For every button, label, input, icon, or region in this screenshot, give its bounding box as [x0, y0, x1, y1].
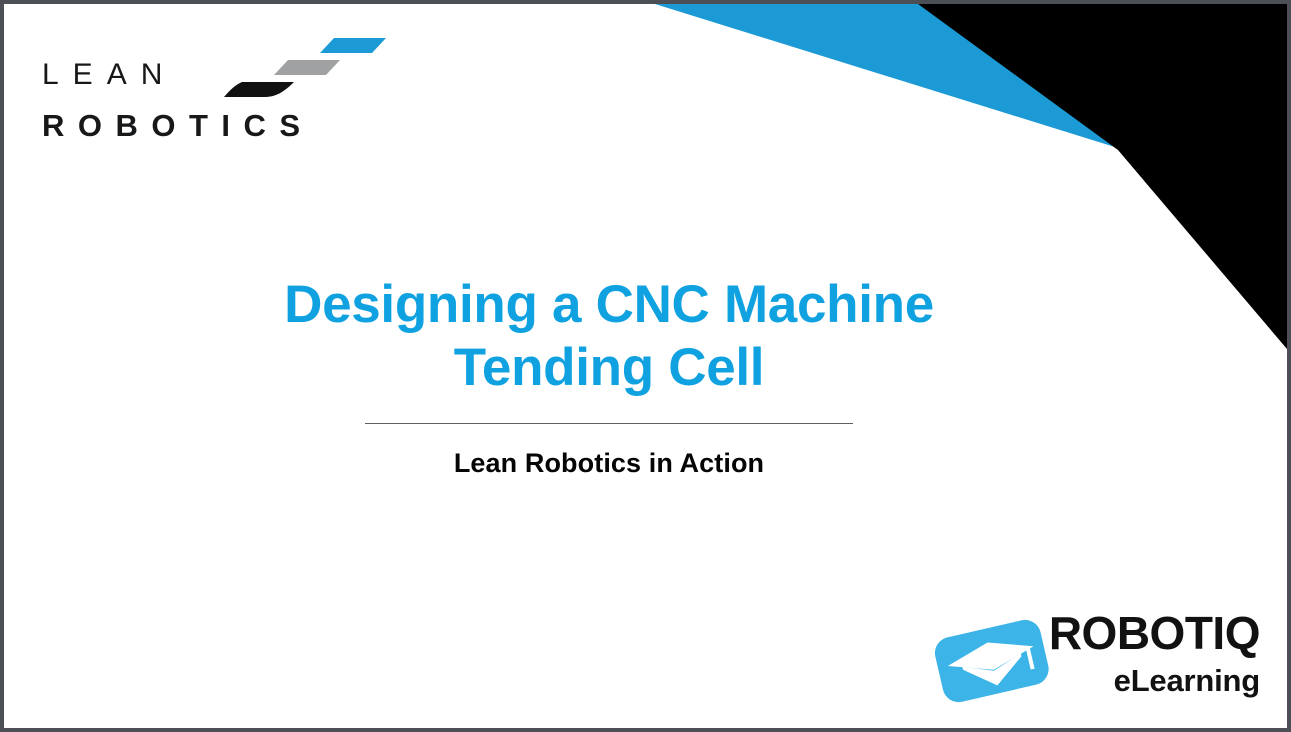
slash-black-icon	[224, 82, 294, 97]
page-title-line1: Designing a CNC Machine	[284, 275, 934, 334]
lean-logo-slashes-icon	[216, 36, 386, 106]
robotiq-product-name: eLearning	[1049, 665, 1260, 696]
lean-logo-line2: ROBOTICS	[42, 110, 314, 141]
page-title: Designing a CNC Machine Tending Cell	[4, 274, 1214, 399]
robotiq-elearning-logo: ROBOTIQ eLearning	[932, 610, 1262, 716]
slash-gray-icon	[274, 60, 340, 75]
graduation-cap-icon	[932, 616, 1052, 708]
lean-robotics-logo: LEAN ROBOTICS	[40, 26, 370, 136]
lean-logo-line1: LEAN	[42, 60, 176, 90]
page-subtitle: Lean Robotics in Action	[4, 448, 1214, 479]
blue-corner-triangle	[655, 4, 1287, 148]
title-divider	[365, 423, 853, 424]
robotiq-wordmark: ROBOTIQ eLearning	[1049, 610, 1260, 696]
robotiq-brand-name: ROBOTIQ	[1049, 610, 1260, 656]
slash-blue-icon	[320, 38, 386, 53]
page-title-line2: Tending Cell	[454, 338, 764, 397]
presentation-slide: LEAN ROBOTICS Designing a CNC Machine Te…	[0, 0, 1291, 732]
title-block: Designing a CNC Machine Tending Cell Lea…	[4, 274, 1214, 479]
